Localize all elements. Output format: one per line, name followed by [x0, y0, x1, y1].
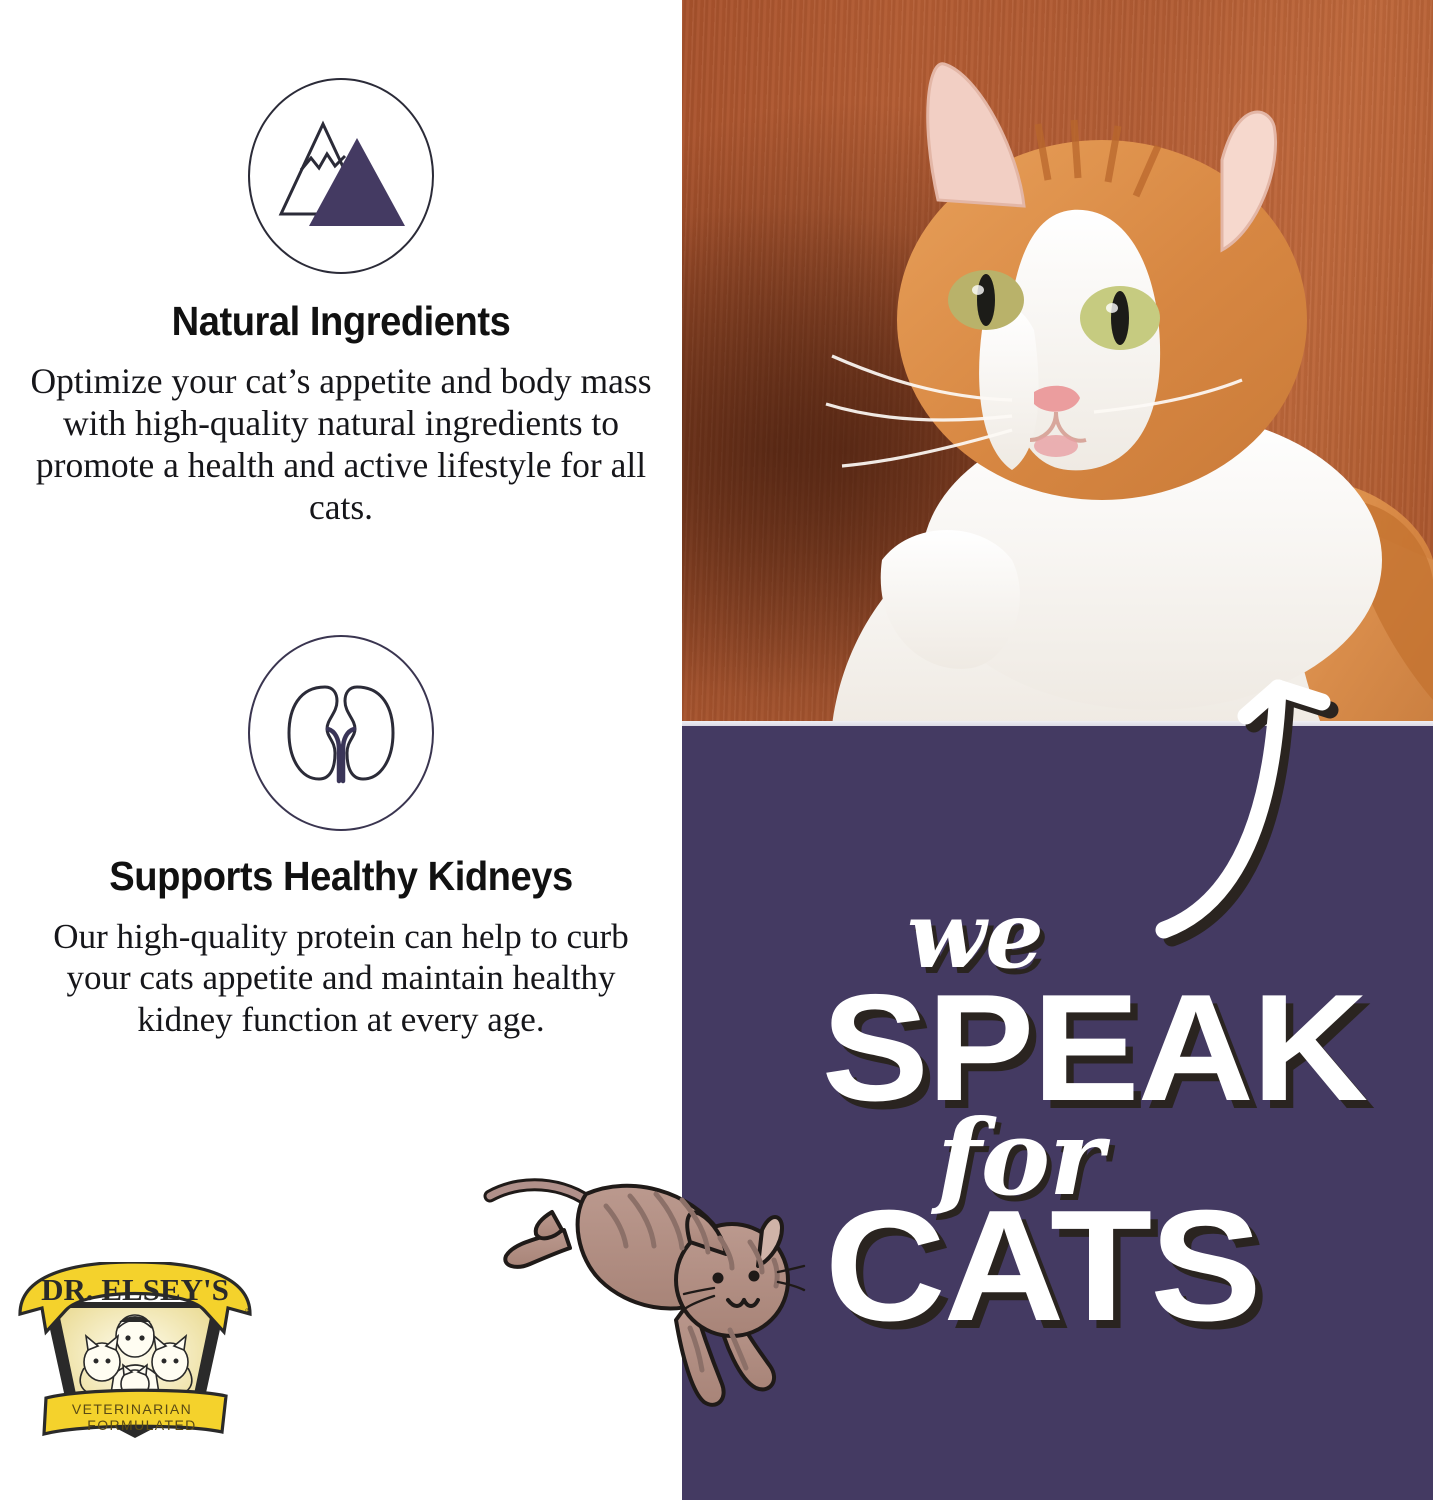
jumping-cartoon-cat: [478, 1168, 838, 1468]
feature-body: Our high-quality protein can help to cur…: [51, 916, 631, 1040]
feature-title: Natural Ingredients: [24, 298, 658, 345]
dr-elseys-logo: DR. ELSEY'S ® VETERINARIAN FORMULATED: [14, 1262, 256, 1450]
logo-tagline-line-2: FORMULATED: [87, 1417, 196, 1433]
feature-block-natural-ingredients: Natural Ingredients Optimize your cat’s …: [0, 78, 682, 529]
curved-up-arrow-icon: [1154, 660, 1384, 950]
feature-body: Optimize your cat’s appetite and body ma…: [19, 361, 664, 529]
logo-tagline-line-1: VETERINARIAN: [72, 1401, 192, 1417]
kidney-icon: [248, 635, 434, 831]
cat-illustration: [682, 0, 1433, 726]
mountain-icon: [248, 78, 434, 274]
feature-title: Supports Healthy Kidneys: [24, 853, 658, 900]
slogan-word-cats: CATS: [825, 1176, 1260, 1357]
logo-brand-text: DR. ELSEY'S: [41, 1272, 229, 1307]
feature-block-supports-healthy-kidneys: Supports Healthy Kidneys Our high-qualit…: [0, 635, 682, 1040]
hero-cat-photo: [682, 0, 1433, 726]
registered-mark: ®: [245, 1307, 251, 1316]
